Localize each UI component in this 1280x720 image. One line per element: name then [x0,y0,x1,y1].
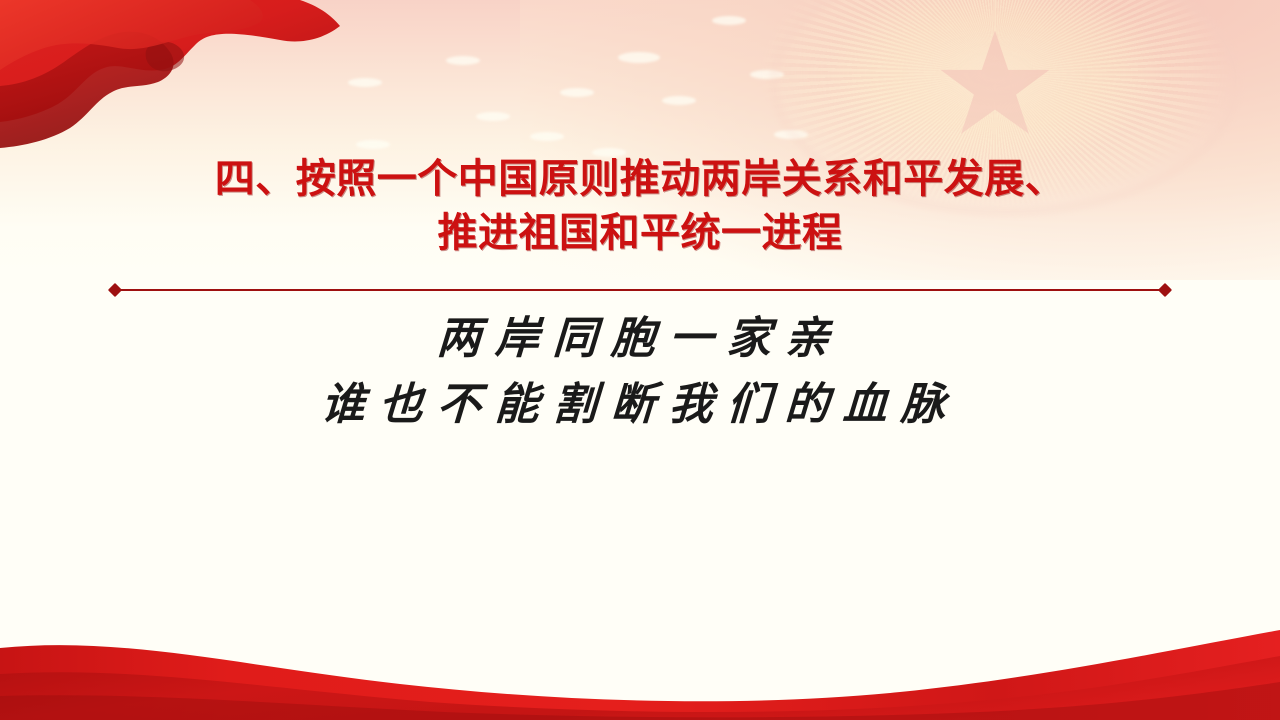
divider-diamond-right-icon [1158,283,1172,297]
divider [110,283,1170,297]
couplet-line-1: 两岸同胞一家亲 [0,306,1280,372]
slide-canvas: 四、按照一个中国原则推动两岸关系和平发展、 推进祖国和平统一进程 两岸同胞一家亲… [0,0,1280,720]
title-line-1: 四、按照一个中国原则推动两岸关系和平发展、 [0,152,1280,206]
couplet-line-2: 谁也不能割断我们的血脉 [0,372,1280,438]
couplet-block: 两岸同胞一家亲 谁也不能割断我们的血脉 [0,306,1280,438]
red-wave-banner-icon [0,600,1280,720]
divider-rule [115,289,1165,291]
slide-title: 四、按照一个中国原则推动两岸关系和平发展、 推进祖国和平统一进程 [0,152,1280,260]
title-line-2: 推进祖国和平统一进程 [0,206,1280,260]
